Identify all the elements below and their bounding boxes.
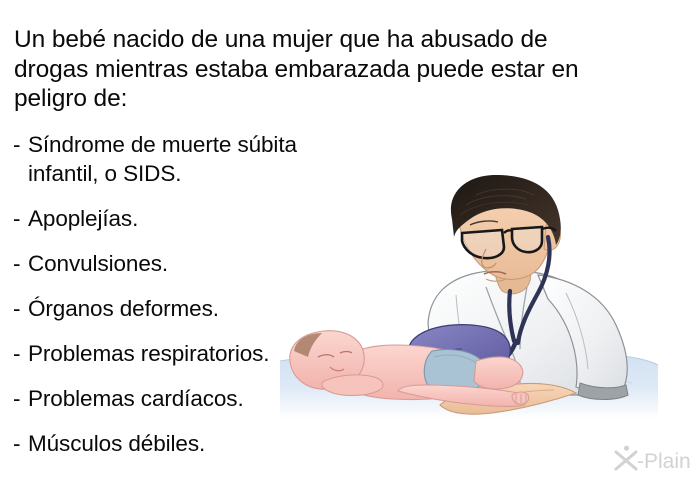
slide-canvas: Un bebé nacido de una mujer que ha abusa… xyxy=(0,0,700,480)
bullet-dash-icon: - xyxy=(13,294,20,323)
doctor-examining-baby-illustration xyxy=(280,175,700,425)
bullet-dash-icon: - xyxy=(13,130,20,159)
page-title: Un bebé nacido de una mujer que ha abusa… xyxy=(14,25,614,114)
list-item: - Músculos débiles. xyxy=(13,429,353,458)
bullet-dash-icon: - xyxy=(13,204,20,233)
bullet-dash-icon: - xyxy=(13,429,20,458)
bullet-dash-icon: - xyxy=(13,249,20,278)
bullet-dash-icon: - xyxy=(13,384,20,413)
bullet-dash-icon: - xyxy=(13,339,20,368)
x-plain-mark-icon xyxy=(616,446,636,469)
x-plain-logo: -Plain xyxy=(613,444,695,472)
logo-text: -Plain xyxy=(637,450,691,472)
list-item-label: Músculos débiles. xyxy=(28,429,353,458)
